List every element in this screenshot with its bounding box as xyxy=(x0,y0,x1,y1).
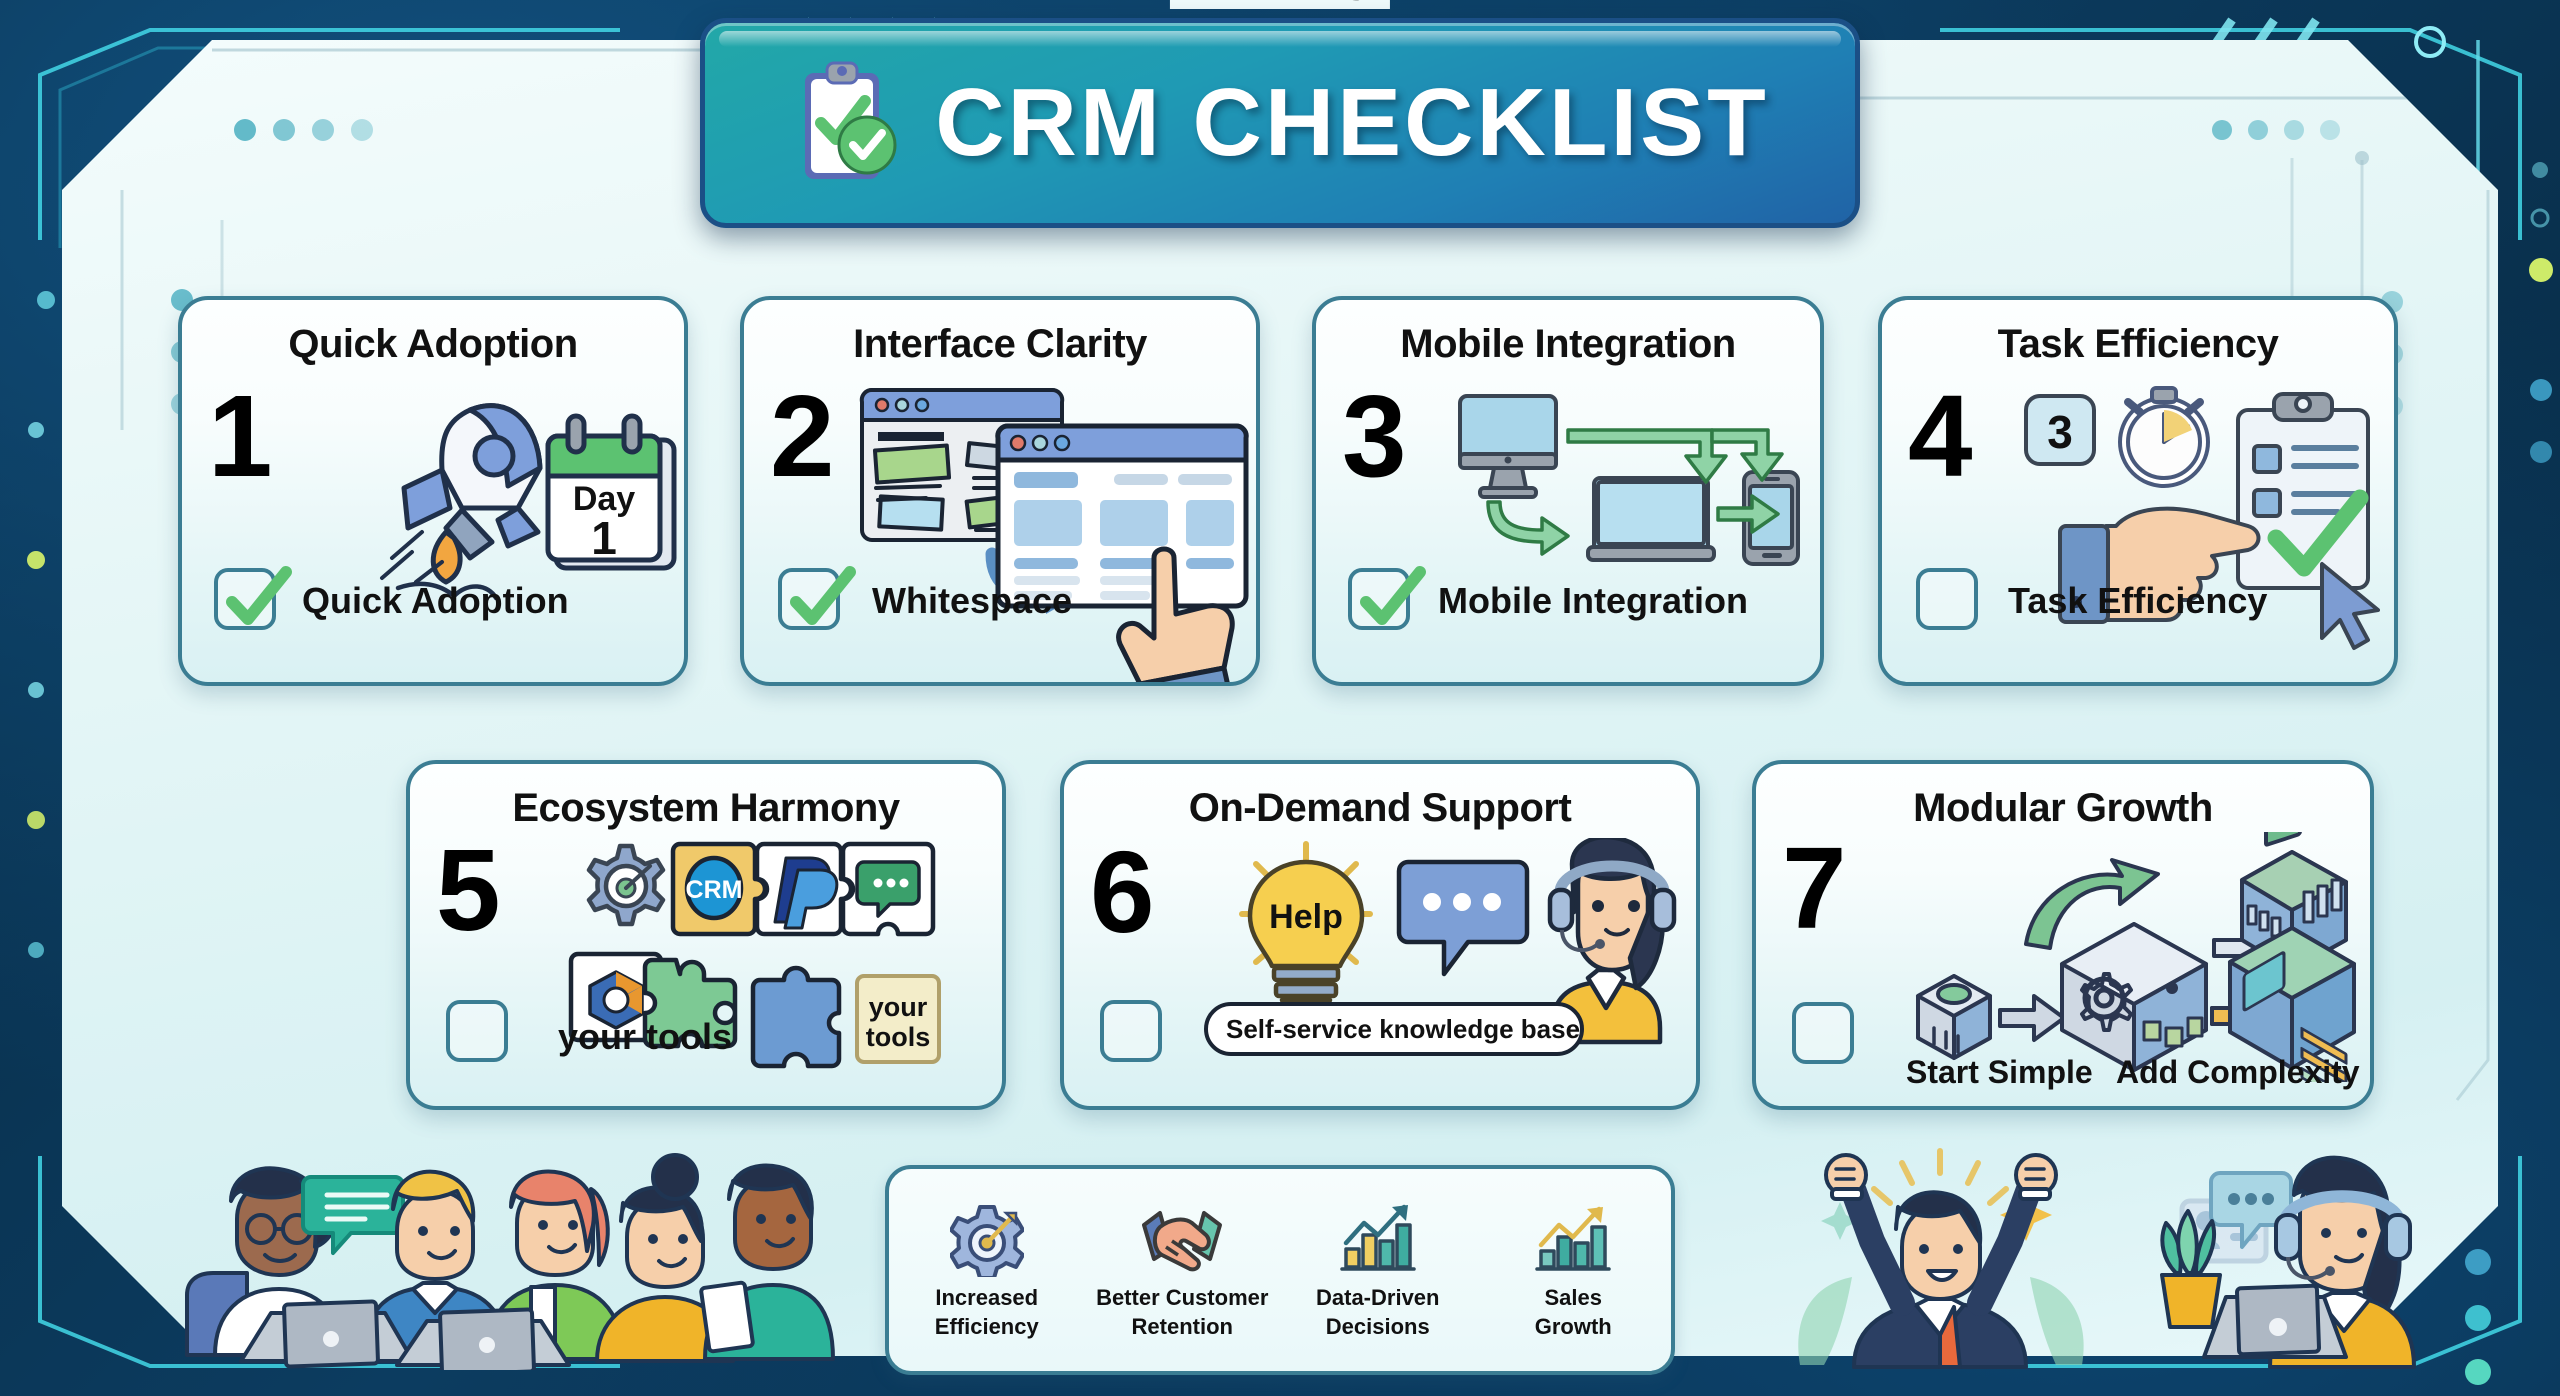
card-footer-label: Mobile Integration xyxy=(1438,580,1748,622)
card-checkbox[interactable] xyxy=(1100,1000,1162,1062)
checkmark-icon xyxy=(210,556,296,642)
checklist-card-3[interactable]: Mobile Integration 3 xyxy=(1312,296,1824,686)
card-title: Quick Adoption xyxy=(182,322,684,367)
svg-text:1: 1 xyxy=(591,512,617,564)
knowledge-base-search-bar[interactable]: Self-service knowledge base xyxy=(1204,1002,1584,1056)
card-footer-label: Task Efficiency xyxy=(2008,580,2267,622)
benefit-label-line2: Growth xyxy=(1478,1315,1668,1340)
card-title: Interface Clarity xyxy=(744,322,1256,367)
support-agent-at-laptop-illustration xyxy=(2118,1145,2418,1370)
clipboard-check-icon xyxy=(791,57,901,189)
checklist-card-4[interactable]: Task Efficiency 4 3 xyxy=(1878,296,2398,686)
team-at-laptops-illustration xyxy=(175,1145,835,1370)
checkmark-icon xyxy=(1344,556,1430,642)
start-simple-caption: Start Simple xyxy=(1906,1054,2093,1091)
bar-chart-up-icon xyxy=(1338,1203,1418,1277)
checklist-card-7[interactable]: Modular Growth 7 xyxy=(1752,760,2374,1110)
gear-target-icon xyxy=(950,1203,1024,1277)
benefits-panel: Increased Efficiency Better Customer Ret… xyxy=(885,1165,1675,1375)
checklist-card-1[interactable]: Quick Adoption 1 Day 1 Q xyxy=(178,296,688,686)
device-flow-art xyxy=(1456,392,1806,582)
benefit-item: Data-Driven Decisions xyxy=(1283,1203,1473,1339)
benefit-label-line1: Data-Driven xyxy=(1283,1286,1473,1311)
card-checkbox[interactable] xyxy=(1348,568,1410,630)
card-footer-label: Quick Adoption xyxy=(302,580,569,622)
celebrating-businessman-illustration xyxy=(1790,1145,2090,1370)
interface-clarity-art xyxy=(856,386,1256,686)
benefit-label-line1: Better Customer xyxy=(1087,1286,1277,1311)
card-number: 6 xyxy=(1090,834,1155,950)
checklist-card-6[interactable]: On-Demand Support 6 Help xyxy=(1060,760,1700,1110)
card-title: Modular Growth xyxy=(1756,786,2370,831)
benefit-item: Increased Efficiency xyxy=(892,1203,1082,1339)
card-title: On-Demand Support xyxy=(1064,786,1696,831)
benefit-label-line2: Efficiency xyxy=(892,1315,1082,1340)
search-input[interactable]: Self-service knowledge base xyxy=(1208,1014,1580,1045)
card-checkbox[interactable] xyxy=(1792,1002,1854,1064)
checklist-card-2[interactable]: Interface Clarity 2 xyxy=(740,296,1260,686)
benefit-label-line1: Increased xyxy=(892,1286,1082,1311)
card-number: 1 xyxy=(208,378,273,494)
bulb-label: Help xyxy=(1269,898,1343,936)
rocket-and-calendar-art: Day 1 xyxy=(342,382,682,612)
benefits-title: BENEFITS xyxy=(1170,0,1390,9)
checklist-card-5[interactable]: Ecosystem Harmony 5 CRM xyxy=(406,760,1006,1110)
card-footer-label: Whitespace xyxy=(872,580,1072,622)
card-footer-label: your tools xyxy=(558,1016,732,1058)
benefit-label-line1: Sales xyxy=(1478,1286,1668,1311)
growth-chart-icon xyxy=(1533,1203,1613,1277)
tile-number: 3 xyxy=(2047,406,2073,458)
benefit-label-line2: Retention xyxy=(1087,1315,1277,1340)
add-complexity-caption: Add Complexity xyxy=(2116,1054,2360,1091)
benefit-item: Better Customer Retention xyxy=(1087,1203,1277,1339)
card-number: 5 xyxy=(436,832,501,948)
benefit-label-line2: Decisions xyxy=(1283,1315,1473,1340)
card-number: 7 xyxy=(1782,830,1847,946)
card-checkbox[interactable] xyxy=(446,1000,508,1062)
card-checkbox[interactable] xyxy=(778,568,840,630)
card-checkbox[interactable] xyxy=(214,568,276,630)
card-number: 2 xyxy=(770,378,835,494)
svg-text:your: your xyxy=(869,992,928,1022)
page-title-banner: CRM CHECKLIST xyxy=(700,18,1860,228)
card-checkbox[interactable] xyxy=(1916,568,1978,630)
card-number: 3 xyxy=(1342,378,1407,494)
handshake-icon xyxy=(1140,1203,1224,1277)
svg-text:tools: tools xyxy=(866,1022,931,1052)
card-title: Mobile Integration xyxy=(1316,322,1820,367)
checkmark-icon xyxy=(774,556,860,642)
benefit-item: Sales Growth xyxy=(1478,1203,1668,1339)
card-title: Task Efficiency xyxy=(1882,322,2394,367)
modular-growth-art xyxy=(1906,832,2356,1082)
page-title: CRM CHECKLIST xyxy=(935,68,1769,178)
crm-label: CRM xyxy=(686,876,743,904)
card-number: 4 xyxy=(1908,378,1973,494)
